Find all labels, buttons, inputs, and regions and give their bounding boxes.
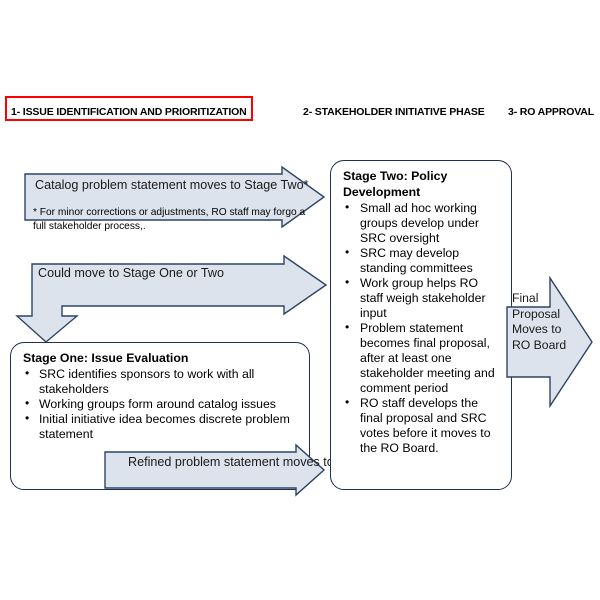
list-item: Initial initiative idea becomes discrete… bbox=[23, 412, 299, 442]
stage-two-title-line-1: Stage Two: Policy bbox=[343, 169, 501, 184]
footnote-text: * For minor corrections or adjustments, … bbox=[33, 206, 313, 234]
list-item: Problem statement becomes final proposal… bbox=[343, 321, 501, 396]
diagram-canvas: 1- ISSUE IDENTIFICATION AND PRIORITIZATI… bbox=[0, 0, 600, 600]
stage-two-title-line-2: Development bbox=[343, 185, 501, 200]
phase-1-label: 1- ISSUE IDENTIFICATION AND PRIORITIZATI… bbox=[11, 106, 247, 118]
arrow-final-label: Final Proposal Moves to RO Board bbox=[512, 291, 574, 353]
list-item: Working groups form around catalog issue… bbox=[23, 397, 299, 412]
arrow-catalog-label: Catalog problem statement moves to Stage… bbox=[35, 178, 308, 193]
list-item: RO staff develops the final proposal and… bbox=[343, 396, 501, 456]
stage-one-content: Stage One: Issue Evaluation SRC identifi… bbox=[11, 343, 309, 442]
stage-one-bullet-list: SRC identifies sponsors to work with all… bbox=[23, 367, 299, 442]
phase-2-label: 2- STAKEHOLDER INITIATIVE PHASE bbox=[303, 106, 485, 118]
stage-two-content: Stage Two: Policy Development Small ad h… bbox=[331, 161, 511, 456]
arrow-bent-label: Could move to Stage One or Two bbox=[38, 266, 224, 281]
phase-3-label: 3- RO APPROVAL bbox=[508, 106, 594, 118]
list-item: SRC may develop standing committees bbox=[343, 246, 501, 276]
list-item: Small ad hoc working groups develop unde… bbox=[343, 201, 501, 246]
stage-two-bullet-list: Small ad hoc working groups develop unde… bbox=[343, 201, 501, 456]
stage-one-title: Stage One: Issue Evaluation bbox=[23, 351, 299, 366]
stage-two-box: Stage Two: Policy Development Small ad h… bbox=[330, 160, 512, 490]
list-item: SRC identifies sponsors to work with all… bbox=[23, 367, 299, 397]
list-item: Work group helps RO staff weigh stakehol… bbox=[343, 276, 501, 321]
